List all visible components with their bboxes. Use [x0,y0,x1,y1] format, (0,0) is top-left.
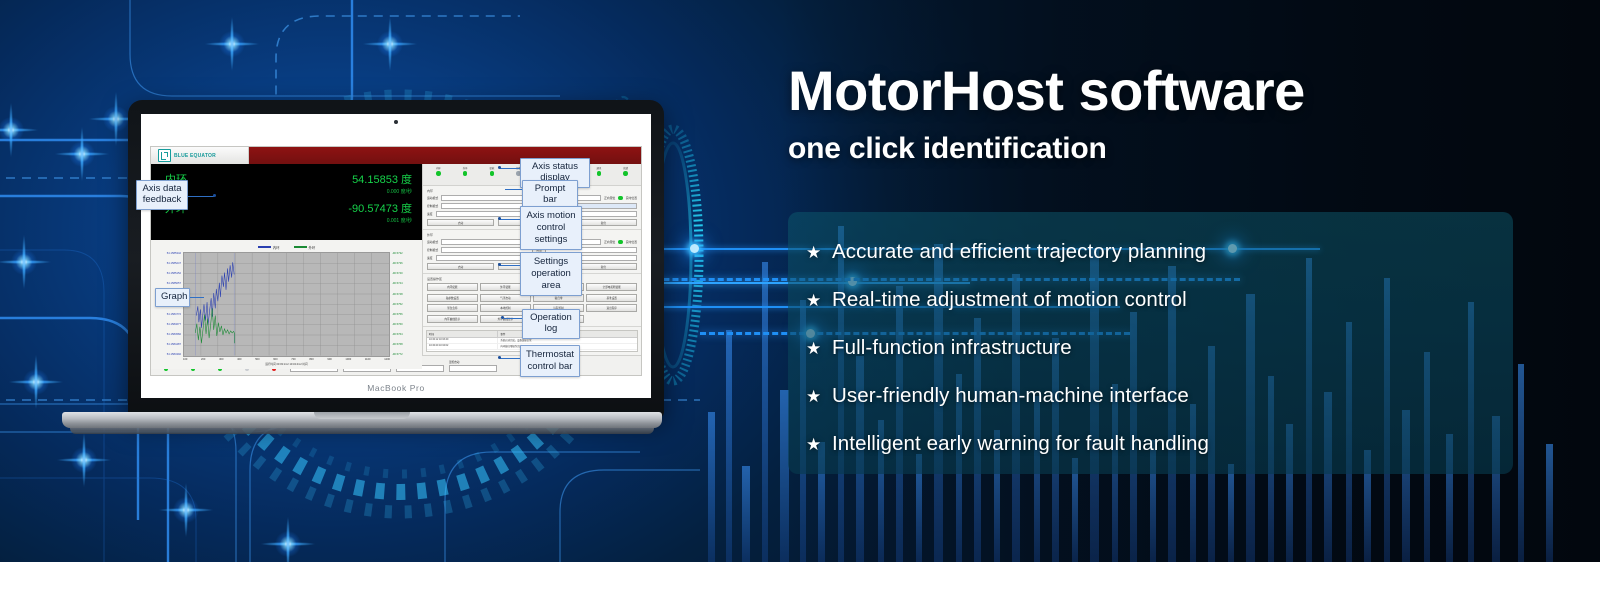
leader-line [505,189,522,190]
x-axis: 100 200 300 400 500 600 700 800 900 [156,357,417,367]
page-subtitle: one click identification [788,132,1107,166]
y-tick: -90.5756 [392,313,403,316]
legend-label-inner: 内环 [273,245,280,250]
status-led-cell: 内环 [426,166,451,176]
brand-name: BLUE EQUATOR [174,153,216,159]
log-col-event: 事件 [498,331,507,337]
list-item: ★ User-friendly human-machine interface [806,372,1506,420]
y-tick: -90.5732 [392,252,403,255]
chart-plot-area[interactable] [183,252,390,357]
promo-banner: MotorHost software one click identificat… [0,0,1600,596]
leader-line [504,318,522,319]
webcam-dot [394,120,398,124]
status-led-label: 就绪 [623,166,628,170]
app-left-column: 内环 54.15853 度 0.000 度/秒 外环 -90. [151,164,423,355]
readout-outer: 外环 -90.57473 度 0.001 度/秒 [165,200,412,224]
leader-tip [213,194,216,197]
blue-equator-logo-icon [158,149,171,162]
x-tick: 200 [201,358,205,361]
callout-label: Prompt bar [535,183,566,205]
field-label: 实时位置 [626,196,637,200]
status-led-icon [436,171,441,176]
y-tick: -90.5740 [392,272,403,275]
thermostat-start-button[interactable]: 温控启动 [449,360,497,372]
log-time: 10:34:12 10:33:40 [427,338,498,343]
axis-start-button[interactable]: 启动 [427,263,494,270]
y-tick: 54.1585057 [167,282,181,285]
connector-dot-1 [690,244,699,253]
leader-line [188,196,214,197]
laptop-model-label: MacBook Pro [141,383,651,393]
laptop-lid: BLUE EQUATOR 内环 54.15853 度 [128,100,664,418]
callout-settings-operation-area: Settings operation area [520,252,582,296]
leader-tip [498,356,501,359]
star-icon: ★ [806,436,832,453]
callout-axis-motion-control-settings: Axis motion control settings [520,206,582,250]
status-led-label: 使能 [489,166,494,170]
feature-text: Accurate and efficient trajectory planni… [832,240,1206,264]
status-led-icon [623,171,628,176]
ops-button[interactable]: 内环使能 [427,283,478,291]
leader-line [500,219,520,220]
y-tick: 54.1585342 [167,252,181,255]
list-item: ★ Full-function infrastructure [806,324,1506,372]
star-icon: ★ [806,292,832,309]
y-tick: -90.5764 [392,333,403,336]
list-item: ★ Real-time adjustment of motion control [806,276,1506,324]
chart-main: 54.1585342 54.1585247 54.1585152 54.1585… [156,252,417,357]
feature-text: User-friendly human-machine interface [832,384,1189,408]
leader-tip [498,166,501,169]
callout-label: Axis data feedback [142,183,181,205]
limit-led-icon [618,240,623,245]
x-tick: 100 [183,358,187,361]
field-label: 运动模式 [427,196,438,200]
y-tick: 54.1585247 [167,262,181,265]
star-icon: ★ [806,388,832,405]
x-tick: 300 [219,358,223,361]
log-time: 10:34:20 10:34:02 [427,344,498,349]
y-tick: 54.1585152 [167,272,181,275]
laptop-foot [70,428,654,434]
status-led-label: 内环 [436,166,441,170]
y-tick: 54.1584677 [167,323,181,326]
field-label: 速度 [427,256,433,260]
star-icon: ★ [806,244,832,261]
list-item: ★ Intelligent early warning for fault ha… [806,420,1506,468]
axis-start-button[interactable]: 启动 [427,219,494,226]
outer-axis-rate: 0.001 度/秒 [348,217,412,224]
legend-item-outer: 外环 [294,245,316,250]
callout-label: Graph [161,291,187,302]
y-tick: 54.1584582 [167,333,181,336]
brand-logo: BLUE EQUATOR [151,147,249,164]
speed-field[interactable] [436,255,531,261]
status-led-label: 通讯 [596,166,601,170]
thermostat-toggle[interactable] [449,365,497,372]
field-label: 控制模式 [427,204,438,208]
leader-tip [498,263,501,266]
callout-label: Settings operation area [531,256,571,291]
x-tick: 900 [327,358,331,361]
y-tick: 54.1584772 [167,313,181,316]
x-tick: 1100 [365,358,371,361]
ops-button[interactable]: 紧急急停 [427,304,478,312]
graph-panel: 内环 外环 54.1585342 [151,240,422,369]
x-tick: 1200 [384,358,390,361]
callout-thermostat-control-bar: Thermostat control bar [520,345,580,377]
x-tick: 1000 [345,358,351,361]
field-label: 运动模式 [427,240,438,244]
inner-axis-value: 54.15853 度 [352,174,412,186]
leader-line [500,358,520,359]
x-tick: 400 [237,358,241,361]
feature-text: Intelligent early warning for fault hand… [832,432,1209,456]
field-label: 速度 [427,212,433,216]
ops-button[interactable]: 全部电机断使能 [586,283,637,291]
limit-led-icon [618,196,623,201]
field-label: 控制模式 [427,248,438,252]
status-led-label: 外环 [463,166,468,170]
ops-button[interactable]: 退出程序 [586,304,637,312]
x-tick: 500 [255,358,259,361]
feature-text: Real-time adjustment of motion control [832,288,1187,312]
status-led-cell: 外环 [453,166,478,176]
thermostat-label: 温控启动 [449,360,497,364]
log-col-time: 时间 [427,331,498,337]
speed-field[interactable] [436,211,531,217]
feature-text: Full-function infrastructure [832,336,1072,360]
y-tick: -90.5748 [392,293,403,296]
callout-axis-data-feedback: Axis data feedback [136,180,188,210]
ops-button[interactable]: 轴参数设置 [427,294,478,302]
feature-list: ★ Accurate and efficient trajectory plan… [806,228,1506,468]
callout-label: Operation log [530,312,572,334]
y-tick: -90.5752 [392,303,403,306]
x-tick: 800 [309,358,313,361]
outer-axis-value: -90.57473 度 [348,203,412,215]
readout-inner: 内环 54.15853 度 0.000 度/秒 [165,171,412,195]
field-label: 正向限位 [604,240,615,244]
ops-button[interactable]: 内环曲线显示 [427,315,478,323]
status-led-icon [463,171,468,176]
legend-label-outer: 外环 [309,245,316,250]
y-tick: -90.5736 [392,262,403,265]
chart-legend: 内环 外环 [156,244,417,250]
y-tick: -90.5768 [392,343,403,346]
leader-line [500,265,520,266]
axis-data-feedback-panel: 内环 54.15853 度 0.000 度/秒 外环 -90. [151,164,422,240]
field-label: 正向限位 [604,196,615,200]
ops-button[interactable]: 基准设置 [586,294,637,302]
callout-operation-log: Operation log [522,309,580,339]
x-axis-title: 运行时间 00:03:14.2 10:34:44.2 时间 [265,362,307,366]
x-tick: 700 [291,358,295,361]
leader-line [190,297,204,298]
page-title: MotorHost software [788,62,1305,121]
status-led-icon [597,171,602,176]
status-led-cell: 就绪 [613,166,638,176]
inner-axis-rate: 0.000 度/秒 [352,188,412,195]
list-item: ★ Accurate and efficient trajectory plan… [806,228,1506,276]
x-tick: 600 [273,358,277,361]
y-tick: -90.5760 [392,323,403,326]
y-axis-right: -90.5732 -90.5736 -90.5740 -90.5744 -90.… [390,252,417,357]
bottom-white-strip [0,562,1600,596]
leader-line [500,168,520,169]
y-tick: 54.1584487 [167,343,181,346]
y-tick: -90.5744 [392,282,403,285]
callout-label: Axis motion control settings [526,210,575,245]
star-icon: ★ [806,340,832,357]
leader-tip [498,217,501,220]
status-led-icon [490,171,495,176]
field-label: 实时位置 [626,240,637,244]
laptop-base [62,412,662,428]
leader-tip [501,316,504,319]
callout-label: Thermostat control bar [526,349,574,372]
legend-item-inner: 内环 [258,245,280,250]
callout-graph: Graph [155,288,190,307]
status-led-cell: 通讯 [587,166,612,176]
